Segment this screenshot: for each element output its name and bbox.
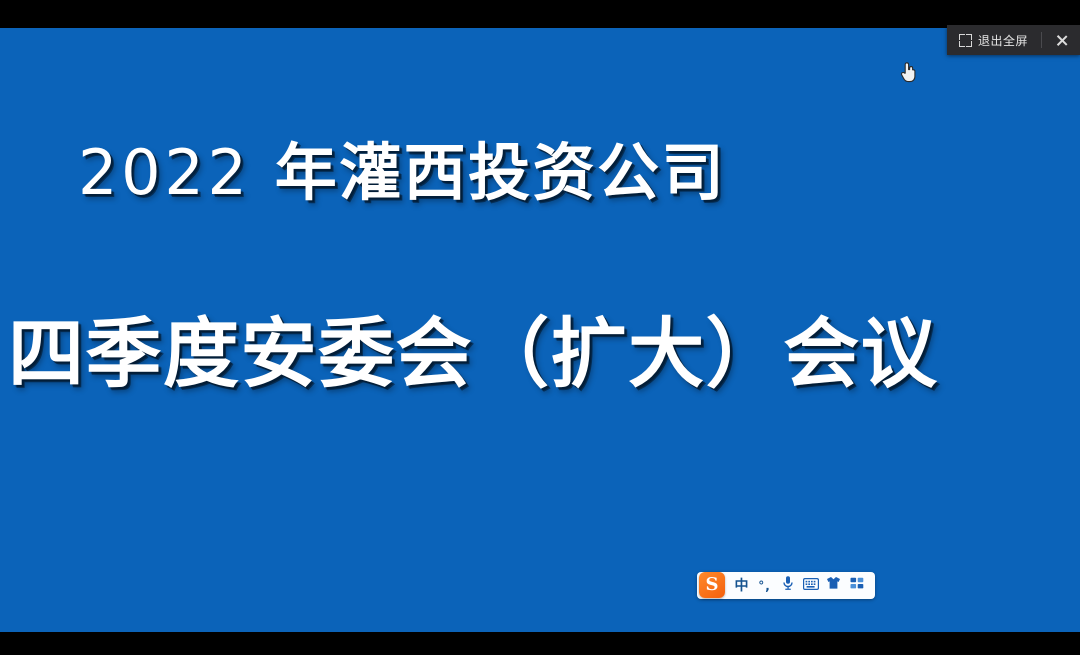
slide-title-line-1-text: 年灌西投资公司 (251, 136, 726, 209)
toolbox-grid-icon (850, 577, 864, 595)
sogou-logo-icon[interactable]: S (699, 572, 725, 598)
ime-voice-input-button[interactable] (776, 574, 799, 597)
exit-fullscreen-button[interactable]: 退出全屏 (947, 25, 1039, 55)
ime-punctuation-toggle-button[interactable]: °, (753, 574, 776, 597)
exit-fullscreen-label: 退出全屏 (978, 32, 1028, 49)
slide-title-line-2: 四季度安委会（扩大）会议 (8, 306, 938, 402)
toolbar-divider (1041, 32, 1042, 48)
ime-skin-button[interactable] (822, 574, 845, 597)
slide-title-year: 2022 (78, 136, 251, 209)
ime-mode-chinese-button[interactable]: 中 (730, 574, 753, 597)
close-icon (1056, 34, 1069, 47)
slide-title-line-1: 2022 年灌西投资公司 (78, 132, 726, 214)
fullscreen-control-bar: 退出全屏 (947, 25, 1080, 55)
ime-mode-label: 中 (735, 579, 749, 593)
letterbox-bottom (0, 632, 1080, 655)
keyboard-icon (803, 577, 819, 595)
ime-soft-keyboard-button[interactable] (799, 574, 822, 597)
sogou-ime-toolbar[interactable]: S 中 °, (697, 572, 875, 599)
ime-toolbox-button[interactable] (845, 574, 868, 597)
shrink-arrows-icon (959, 34, 972, 47)
ime-punctuation-label: °, (758, 580, 771, 592)
letterbox-top (0, 0, 1080, 28)
screen-root: 2022 年灌西投资公司 四季度安委会（扩大）会议 S 中 °, (0, 0, 1080, 655)
microphone-icon (781, 575, 795, 596)
skin-shirt-icon (826, 576, 841, 595)
close-button[interactable] (1044, 25, 1080, 55)
presentation-slide: 2022 年灌西投资公司 四季度安委会（扩大）会议 (0, 28, 1080, 632)
